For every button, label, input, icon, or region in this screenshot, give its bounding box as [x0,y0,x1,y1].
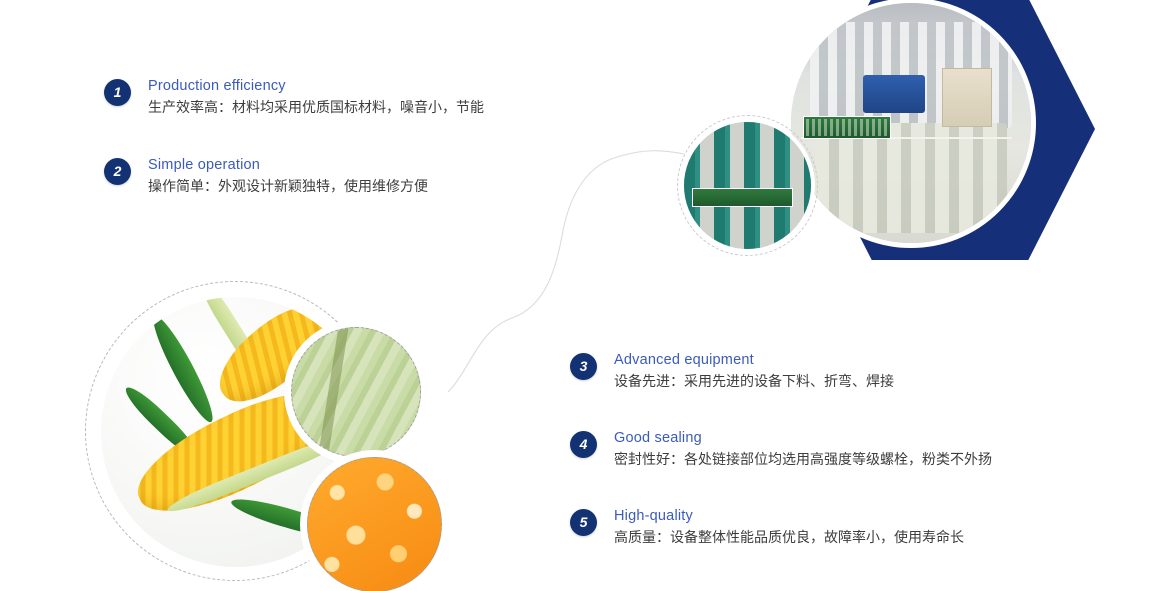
feature-desc-3: 设备先进：采用先进的设备下料、折弯、焊接 [614,371,894,391]
corn-kernels-photo [307,457,442,591]
feature-badge-1: 1 [104,79,131,106]
feature-item-2[interactable]: 2 Simple operation 操作简单：外观设计新颖独特，使用维修方便 [104,156,428,196]
feature-badge-4: 4 [570,431,597,458]
feature-badge-2: 2 [104,158,131,185]
feature-text-3: Advanced equipment 设备先进：采用先进的设备下料、折弯、焊接 [614,351,894,391]
machine-big-photo [786,0,1036,248]
feature-text-4: Good sealing 密封性好：各处链接部位均选用高强度等级螺栓，粉类不外扬 [614,429,992,469]
feature-desc-4: 密封性好：各处链接部位均选用高强度等级螺栓，粉类不外扬 [614,449,992,469]
corn-green-photo [291,327,421,457]
machine-small-photo [680,118,815,253]
feature-text-1: Production efficiency 生产效率高：材料均采用优质国标材料，… [148,77,484,117]
feature-title-5: High-quality [614,507,964,525]
feature-desc-1: 生产效率高：材料均采用优质国标材料，噪音小，节能 [148,97,484,117]
feature-title-2: Simple operation [148,156,428,174]
green-banner-detail [803,116,891,140]
feature-badge-5: 5 [570,509,597,536]
feature-text-5: High-quality 高质量：设备整体性能品质优良，故障率小，使用寿命长 [614,507,964,547]
feature-item-5[interactable]: 5 High-quality 高质量：设备整体性能品质优良，故障率小，使用寿命长 [570,507,964,547]
feature-text-2: Simple operation 操作简单：外观设计新颖独特，使用维修方便 [148,156,428,196]
machinery-image-cluster [660,0,1154,274]
blue-hopper-detail [863,75,925,113]
feature-item-3[interactable]: 3 Advanced equipment 设备先进：采用先进的设备下料、折弯、焊… [570,351,894,391]
feature-item-4[interactable]: 4 Good sealing 密封性好：各处链接部位均选用高强度等级螺栓，粉类不… [570,429,992,469]
tan-panel-detail [942,68,992,128]
corn-image-cluster [85,281,485,591]
feature-badge-3: 3 [570,353,597,380]
feature-item-1[interactable]: 1 Production efficiency 生产效率高：材料均采用优质国标材… [104,77,484,117]
feature-desc-2: 操作简单：外观设计新颖独特，使用维修方便 [148,176,428,196]
infographic-page: 1 Production efficiency 生产效率高：材料均采用优质国标材… [0,0,1154,591]
feature-title-1: Production efficiency [148,77,484,95]
feature-desc-5: 高质量：设备整体性能品质优良，故障率小，使用寿命长 [614,527,964,547]
feature-title-4: Good sealing [614,429,992,447]
machine-small-photo-art [684,122,811,249]
feature-title-3: Advanced equipment [614,351,894,369]
